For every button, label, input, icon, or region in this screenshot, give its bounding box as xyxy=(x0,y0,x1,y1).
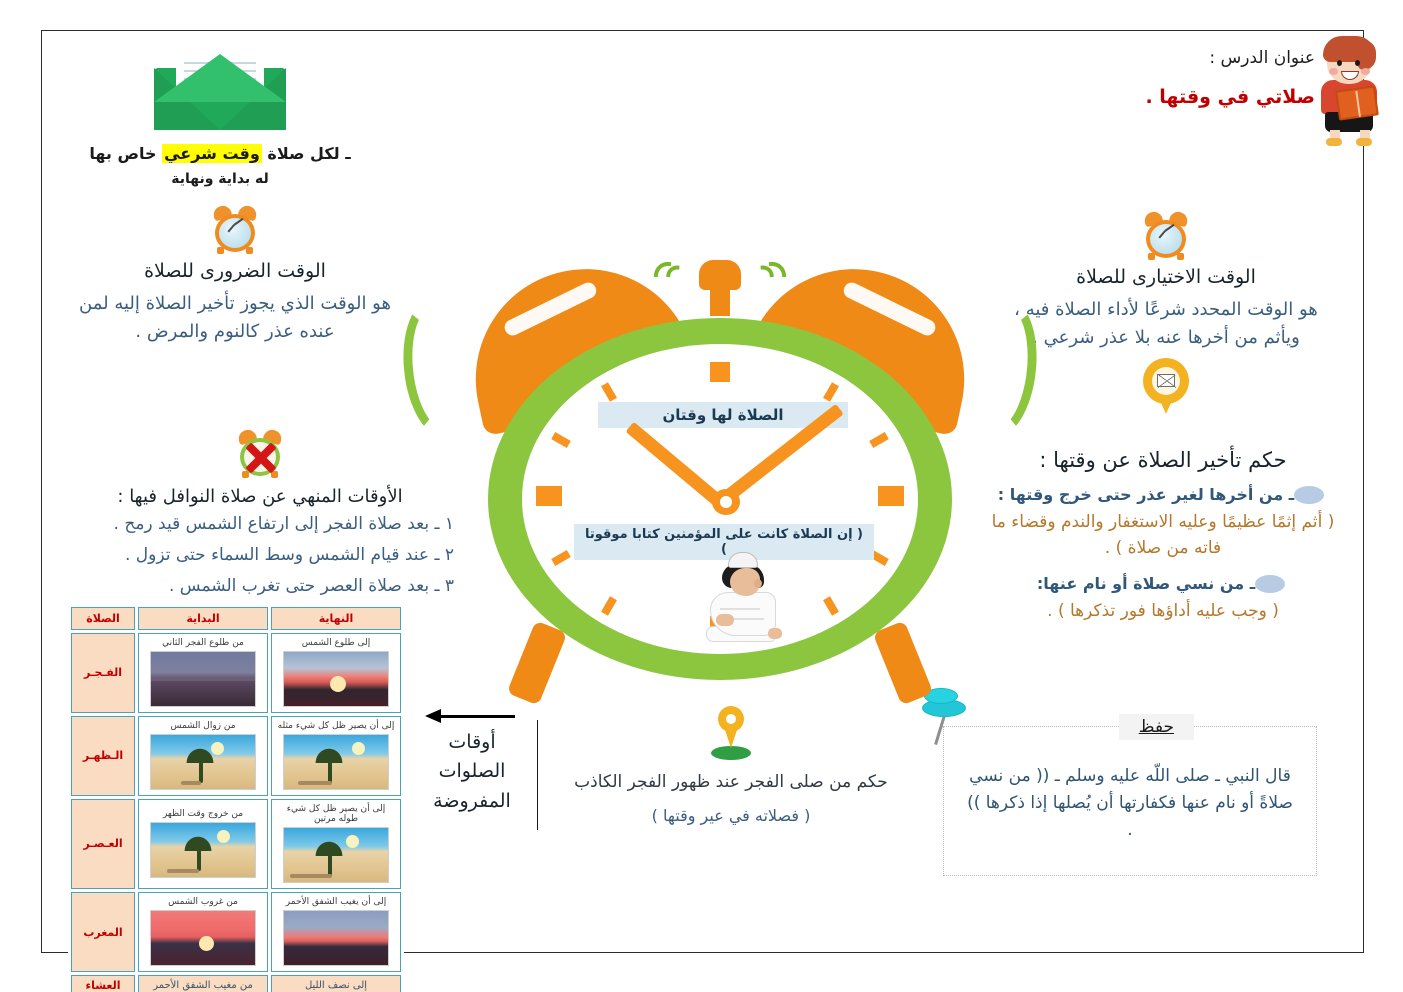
cell-start-caption: من خروج وقت الظهر xyxy=(141,807,265,822)
alarm-clock-icon xyxy=(1143,212,1189,260)
clock-ring: الصلاة لها وقتان ( إن الصلاة كانت على ال… xyxy=(488,318,952,680)
cell-prayer-name: الفـجـر xyxy=(71,633,135,713)
cell-start-caption: من غروب الشمس xyxy=(141,895,265,910)
alarm-clock-icon xyxy=(212,206,258,254)
lesson-title-label: عنوان الدرس : xyxy=(1015,48,1315,68)
cell-end-caption: إلى أن يصير ظل كل شيء طوله مرتين xyxy=(274,802,398,828)
table-caption: أوقات الصلوات المفروضة xyxy=(424,728,520,816)
delay-item-head: ـ من أخرها لغير عذر حتى خرج وقتها : xyxy=(998,485,1295,504)
location-pin-icon xyxy=(710,706,752,760)
necessary-time-description: هو الوقت الذي يجوز تأخير الصلاة إليه لمن… xyxy=(70,290,400,346)
cell-end: إلى نصف الليل xyxy=(271,975,401,992)
scene-dawn xyxy=(150,651,256,707)
false-dawn-block: حكم من صلى الفجر عند ظهور الفجر الكاذب (… xyxy=(556,706,906,825)
table-header-row: النهاية البداية الصلاة xyxy=(71,607,401,630)
false-dawn-text: حكم من صلى الفجر عند ظهور الفجر الكاذب xyxy=(556,770,906,796)
table-row: إلى أن يغيب الشفق الأحمر من غروب الشمس ا… xyxy=(71,892,401,972)
cell-start-caption: من زوال الشمس xyxy=(141,719,265,734)
scene-desert-afternoon xyxy=(283,734,389,790)
cell-prayer-name: العشاء xyxy=(71,975,135,992)
table-row: إلى نصف الليل من مغيب الشفق الأحمر العشا… xyxy=(71,975,401,992)
cell-end: إلى أن يغيب الشفق الأحمر xyxy=(271,892,401,972)
praying-boy-icon xyxy=(698,552,790,644)
clock-hour-hand xyxy=(625,422,724,508)
table-row: إلى طلوع الشمس من طلوع الفجر الثاني الفـ… xyxy=(71,633,401,713)
sound-wave-icon xyxy=(959,295,1043,442)
optional-time-title: الوقت الاختيارى للصلاة xyxy=(1001,266,1331,288)
scene-dusk xyxy=(283,910,389,966)
optional-time-description: هو الوقت المحدد شرعًا لأداء الصلاة فيه ،… xyxy=(1001,296,1331,352)
cell-start: من طلوع الفجر الثاني xyxy=(138,633,268,713)
cell-start: من مغيب الشفق الأحمر xyxy=(138,975,268,992)
clock-tick-12 xyxy=(710,362,730,382)
cell-prayer-name: المغرب xyxy=(71,892,135,972)
left-arrow-icon xyxy=(425,708,515,724)
clock-foot-right xyxy=(873,620,934,705)
x-cross-icon xyxy=(239,436,281,478)
envelope-note-line-1: ـ لكل صلاة وقت شرعي خاص بها xyxy=(70,144,370,163)
cell-end: إلى أن يصير ظل كل شيء طوله مرتين xyxy=(271,799,401,890)
vertical-divider xyxy=(537,720,538,830)
table-caption-line: أوقات xyxy=(424,728,520,757)
scene-sunset xyxy=(150,910,256,966)
cell-end-caption: إلى طلوع الشمس xyxy=(274,636,398,651)
envelope-note-block: ـ لكل صلاة وقت شرعي خاص بها له بداية ونه… xyxy=(70,52,370,187)
clock-foot-left xyxy=(507,620,568,705)
table-row: إلى أن يصير ظل كل شيء طوله مرتين من خروج… xyxy=(71,799,401,890)
clock-tick-5 xyxy=(823,596,839,616)
clock-tick-7 xyxy=(601,596,617,616)
clock-tick-1 xyxy=(823,382,839,402)
false-dawn-note: ( فصلاته في عير وقتها ) xyxy=(556,806,906,825)
memorize-box: حفظ قال النبي ـ صلى اللّه عليه وسلم ـ ((… xyxy=(943,726,1317,876)
memorize-label: حفظ xyxy=(1119,714,1194,740)
cell-end-caption: إلى أن يصير ظل كل شيء مثله xyxy=(274,719,398,734)
cell-end: إلى طلوع الشمس xyxy=(271,633,401,713)
cell-start: من زوال الشمس xyxy=(138,716,268,796)
boy-reading-icon xyxy=(1311,36,1389,146)
scene-sunrise xyxy=(283,651,389,707)
lesson-title-value: صلاتي في وقتها . xyxy=(1015,86,1315,108)
clock-tick-8 xyxy=(551,550,571,566)
necessary-time-block: الوقت الضرورى للصلاة هو الوقت الذي يجوز … xyxy=(70,206,400,346)
optional-time-block: الوقت الاختيارى للصلاة هو الوقت المحدد ش… xyxy=(1001,212,1331,414)
cell-start-caption: من طلوع الفجر الثاني xyxy=(141,636,265,651)
necessary-time-title: الوقت الضرورى للصلاة xyxy=(70,260,400,282)
table-caption-line: المفروضة xyxy=(424,787,520,816)
envelope-icon xyxy=(154,52,286,132)
sound-wave-icon xyxy=(397,295,481,442)
note-before: ـ لكل صلاة xyxy=(262,144,351,163)
memorize-text: قال النبي ـ صلى اللّه عليه وسلم ـ (( من … xyxy=(944,727,1316,845)
bullet-dot-icon xyxy=(1294,486,1324,504)
table-caption-line: الصلوات xyxy=(424,757,520,786)
cell-end-caption: إلى أن يغيب الشفق الأحمر xyxy=(274,895,398,910)
column-header-start: البداية xyxy=(138,607,268,630)
prayer-times-table: النهاية البداية الصلاة إلى طلوع الشمس من… xyxy=(68,604,404,992)
clock-tick-2 xyxy=(869,432,889,448)
clock-tick-3 xyxy=(878,486,904,506)
note-highlight: وقت شرعي xyxy=(162,144,262,163)
clock-tick-11 xyxy=(601,382,617,402)
delay-item-head: ـ من نسي صلاة أو نام عنها: xyxy=(1037,574,1255,593)
envelope-note-line-2: له بداية ونهاية xyxy=(70,171,370,187)
lesson-title-block: عنوان الدرس : صلاتي في وقتها . xyxy=(1015,48,1315,108)
bullet-dot-icon xyxy=(1255,575,1285,593)
clock-tick-10 xyxy=(551,432,571,448)
column-header-prayer: الصلاة xyxy=(71,607,135,630)
cell-start: من غروب الشمس xyxy=(138,892,268,972)
big-alarm-clock: الصلاة لها وقتان ( إن الصلاة كانت على ال… xyxy=(400,252,1040,702)
cell-prayer-name: الـظهـر xyxy=(71,716,135,796)
clock-knob-stem xyxy=(710,284,730,316)
table-row: إلى أن يصير ظل كل شيء مثله من زوال الشمس xyxy=(71,716,401,796)
mail-pin-icon xyxy=(1143,358,1189,414)
cell-prayer-name: العـصـر xyxy=(71,799,135,890)
column-header-end: النهاية xyxy=(271,607,401,630)
scene-desert-late xyxy=(283,827,389,883)
worksheet-page: عنوان الدرس : صلاتي في وقتها . ـ لكل صلا… xyxy=(0,0,1403,992)
note-after: خاص بها xyxy=(89,144,162,163)
scene-desert-afternoon xyxy=(150,822,256,878)
scene-desert-noon xyxy=(150,734,256,790)
no-prayer-clock-icon xyxy=(237,430,283,478)
clock-face: الصلاة لها وقتان ( إن الصلاة كانت على ال… xyxy=(522,344,918,654)
cell-end: إلى أن يصير ظل كل شيء مثله xyxy=(271,716,401,796)
clock-tick-9 xyxy=(536,486,562,506)
cell-start: من خروج وقت الظهر xyxy=(138,799,268,890)
clock-center-cap xyxy=(712,489,740,515)
